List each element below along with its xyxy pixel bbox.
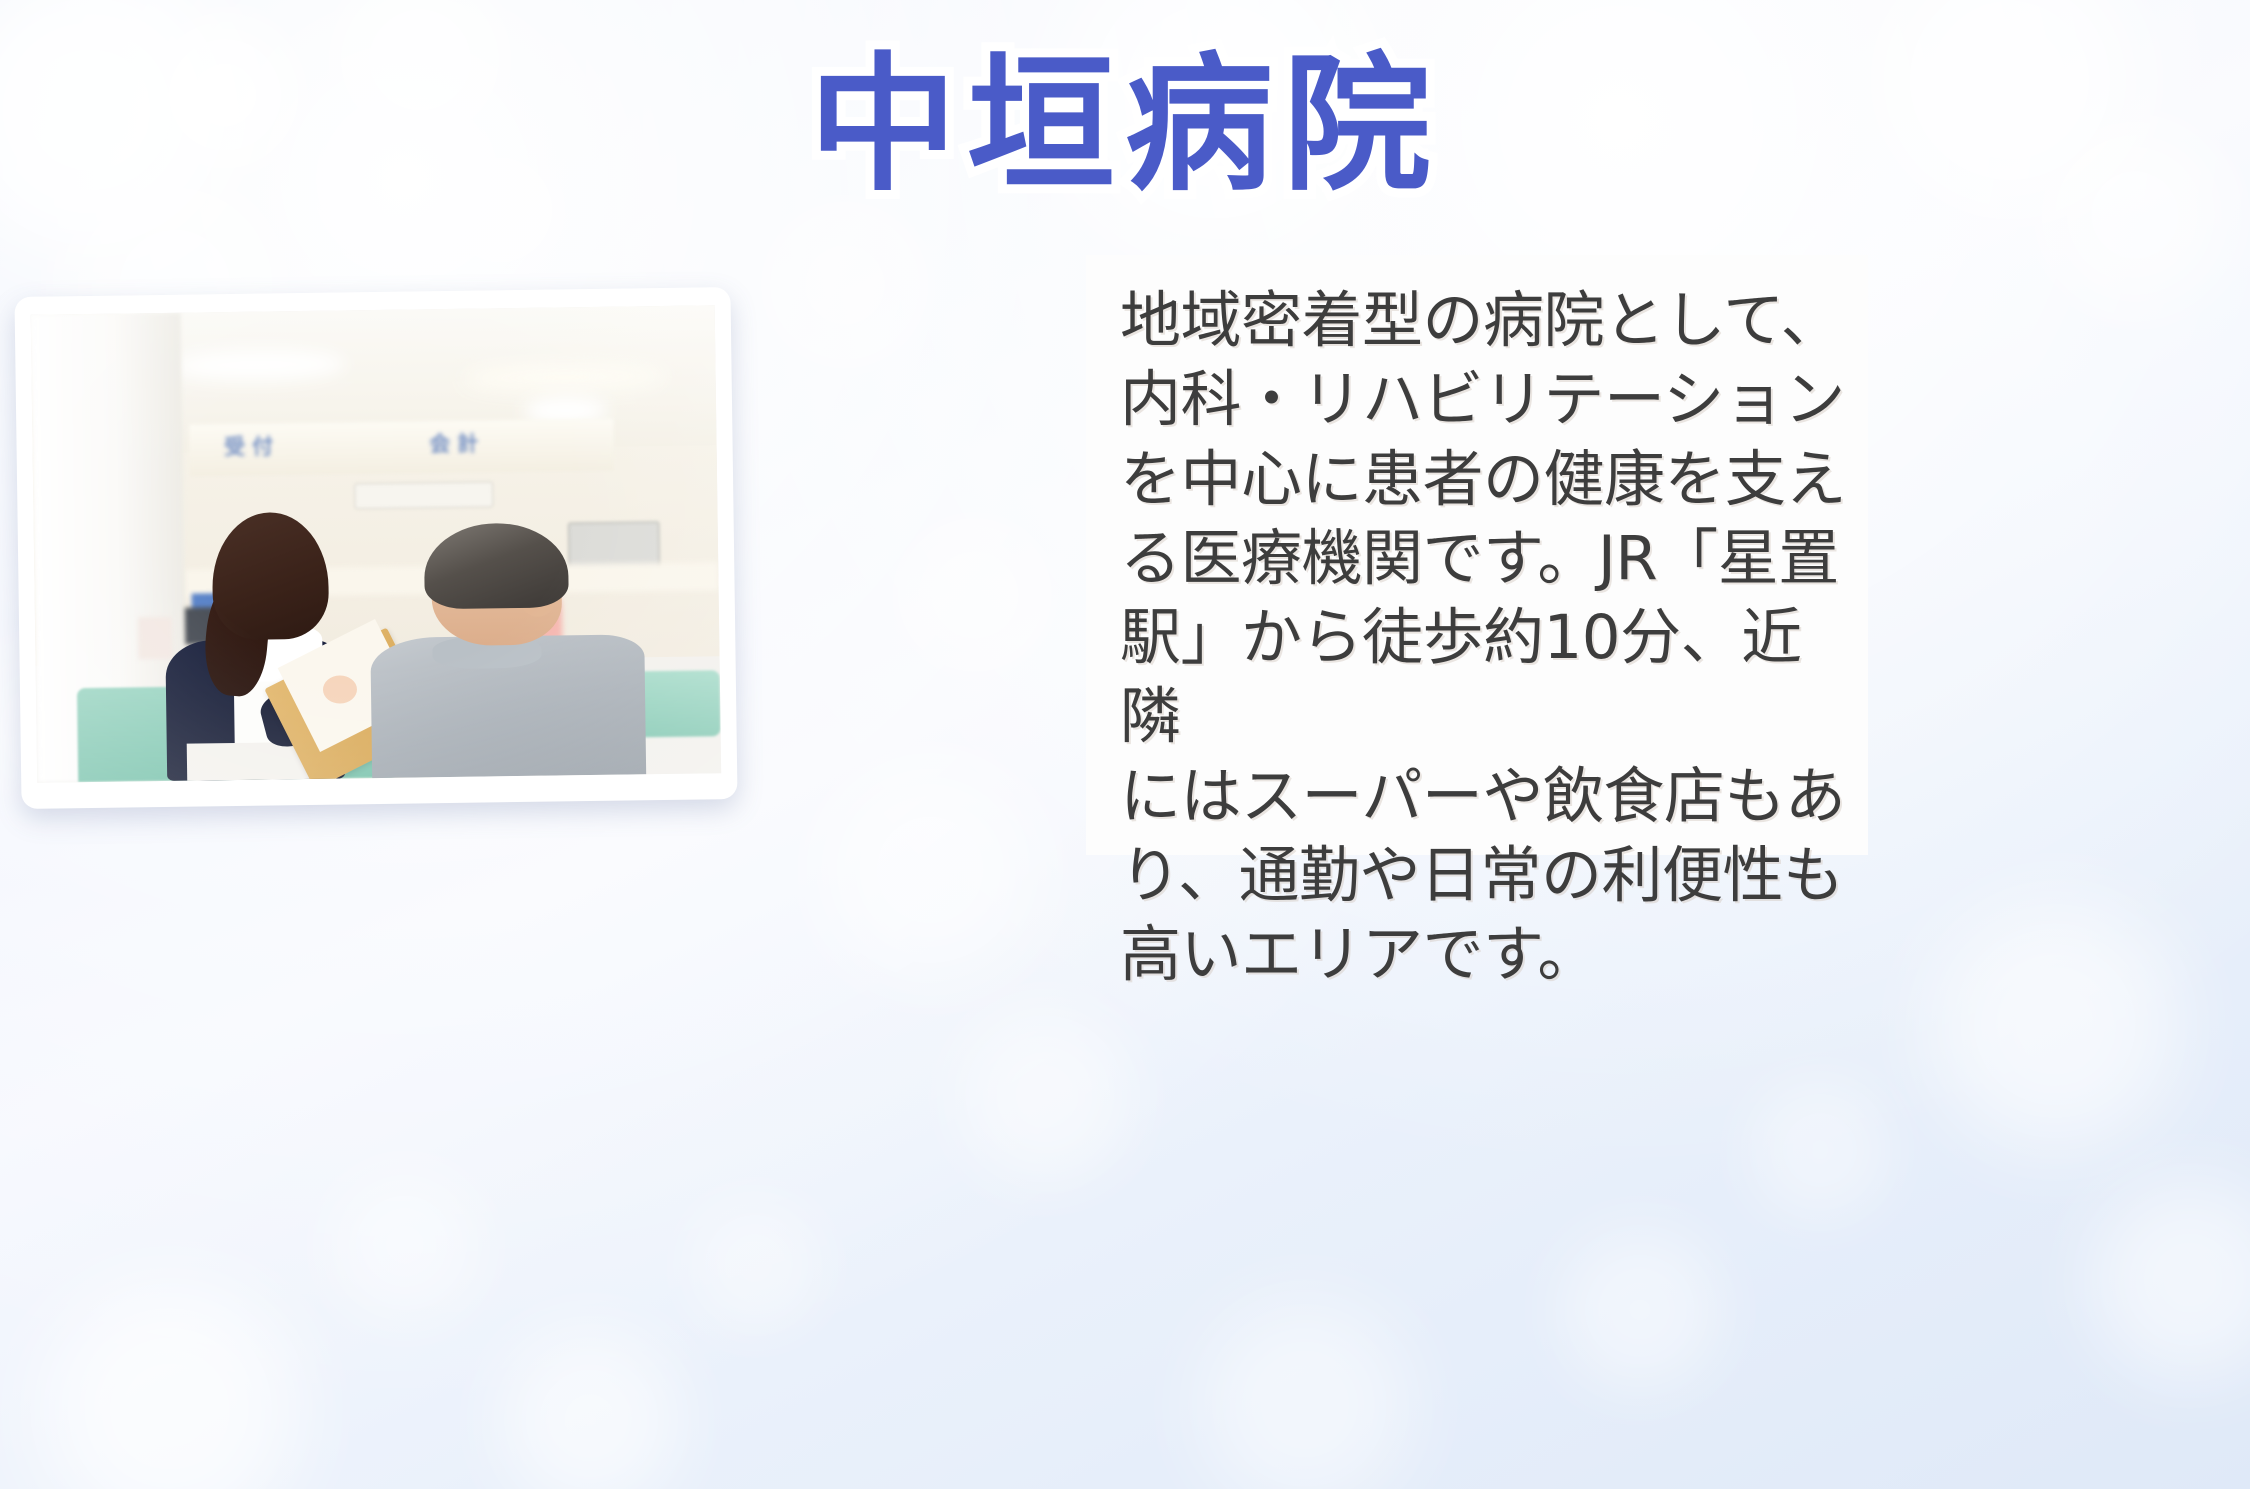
bokeh-circle <box>1930 900 2180 1150</box>
bokeh-circle <box>500 1330 680 1489</box>
bokeh-circle <box>1560 1230 1720 1390</box>
bokeh-circle <box>760 200 930 370</box>
description-text: 地域密着型の病院として、 内科・リハビリテーション を中心に患者の健康を支え る… <box>1120 281 1854 995</box>
bokeh-circle <box>820 760 1040 980</box>
bokeh-circle <box>900 520 1050 670</box>
description-panel: 地域密着型の病院として、 内科・リハビリテーション を中心に患者の健康を支え る… <box>1086 255 1868 855</box>
page-title-wrapper: 中垣病院 <box>0 38 2250 213</box>
bokeh-circle <box>330 1170 480 1320</box>
bokeh-circle <box>960 1010 1130 1180</box>
bokeh-circle <box>40 1280 300 1489</box>
photo-vignette <box>31 305 721 783</box>
hospital-photo-card: 受付 会計 <box>14 287 737 809</box>
bokeh-circle <box>2090 1180 2250 1380</box>
page-title: 中垣病院 <box>809 38 1441 213</box>
bokeh-circle <box>690 1200 820 1330</box>
slide-canvas: 中垣病院 受付 会計 <box>0 0 2250 1489</box>
hospital-photo: 受付 会計 <box>31 305 721 783</box>
bokeh-circle <box>1750 1080 1890 1220</box>
bokeh-circle <box>1200 1300 1410 1489</box>
